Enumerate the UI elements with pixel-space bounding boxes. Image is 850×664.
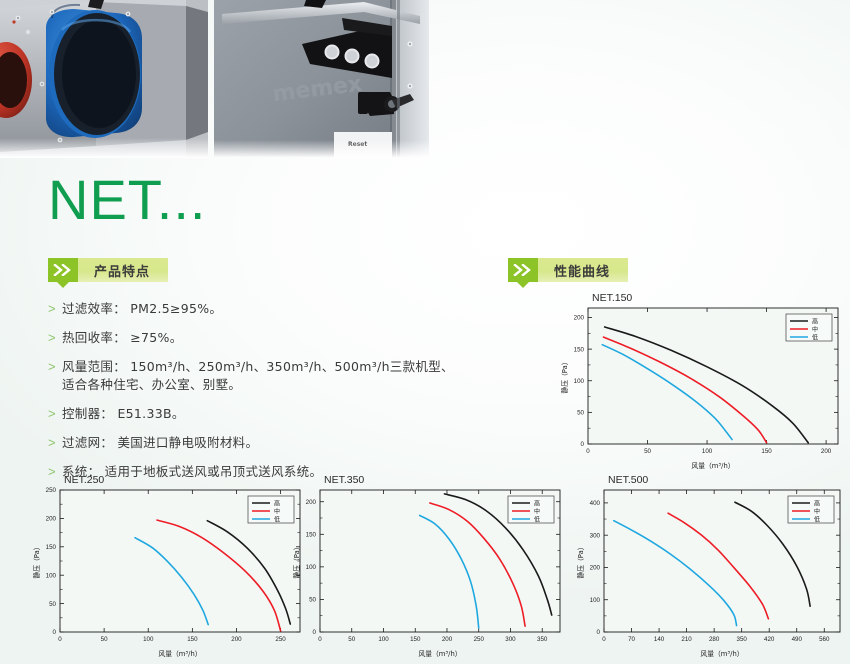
svg-text:50: 50 bbox=[49, 601, 56, 608]
svg-text:200: 200 bbox=[442, 636, 453, 643]
svg-text:0: 0 bbox=[586, 448, 590, 455]
performance-chart-net350: NET.350050100150200250300350050100150200… bbox=[288, 470, 568, 662]
svg-text:150: 150 bbox=[46, 544, 57, 551]
svg-text:风量（m³/h）: 风量（m³/h） bbox=[691, 462, 734, 470]
svg-text:560: 560 bbox=[819, 636, 830, 643]
svg-text:490: 490 bbox=[792, 636, 803, 643]
svg-text:300: 300 bbox=[505, 636, 516, 643]
svg-text:250: 250 bbox=[275, 636, 286, 643]
svg-text:高: 高 bbox=[534, 499, 540, 507]
section-badge-features: 产品特点 bbox=[48, 258, 168, 282]
svg-text:350: 350 bbox=[737, 636, 748, 643]
section-badge-features-label: 产品特点 bbox=[78, 258, 168, 282]
svg-text:NET.250: NET.250 bbox=[64, 474, 104, 486]
product-photo-duct-ports bbox=[0, 0, 208, 158]
svg-text:高: 高 bbox=[274, 499, 280, 507]
svg-text:0: 0 bbox=[53, 629, 57, 636]
svg-text:400: 400 bbox=[590, 500, 601, 507]
svg-text:200: 200 bbox=[231, 636, 242, 643]
page-title: NET... bbox=[48, 170, 206, 230]
svg-text:风量（m³/h）: 风量（m³/h） bbox=[700, 650, 743, 658]
svg-text:0: 0 bbox=[58, 636, 62, 643]
section-badge-curves-label: 性能曲线 bbox=[538, 258, 628, 282]
svg-text:50: 50 bbox=[348, 636, 355, 643]
performance-chart-net250: NET.250050100150200250050100150200250风量（… bbox=[28, 470, 308, 662]
svg-text:50: 50 bbox=[577, 410, 584, 417]
svg-text:100: 100 bbox=[574, 378, 585, 385]
svg-text:风量（m³/h）: 风量（m³/h） bbox=[418, 650, 461, 658]
svg-text:静压（Pa）: 静压（Pa） bbox=[560, 358, 569, 393]
svg-text:280: 280 bbox=[709, 636, 720, 643]
bullet-chevron-icon: > bbox=[48, 329, 62, 346]
svg-text:低: 低 bbox=[812, 333, 818, 341]
product-photo-strip: memex memex R bbox=[0, 0, 430, 158]
svg-text:中: 中 bbox=[814, 507, 820, 515]
svg-text:高: 高 bbox=[814, 499, 820, 507]
svg-text:0: 0 bbox=[597, 629, 601, 636]
svg-text:100: 100 bbox=[378, 636, 389, 643]
svg-text:150: 150 bbox=[574, 346, 585, 353]
list-item: > 过滤网： 美国进口静电吸附材料。 bbox=[48, 434, 488, 452]
svg-text:静压（Pa）: 静压（Pa） bbox=[292, 543, 301, 578]
svg-text:100: 100 bbox=[306, 564, 317, 571]
svg-text:200: 200 bbox=[46, 516, 57, 523]
svg-text:150: 150 bbox=[410, 636, 421, 643]
svg-text:200: 200 bbox=[306, 499, 317, 506]
list-item: > 控制器： E51.33B。 bbox=[48, 405, 488, 423]
svg-text:低: 低 bbox=[274, 515, 280, 523]
feature-text: 过滤效率： PM2.5≥95%。 bbox=[62, 300, 222, 318]
svg-text:NET.500: NET.500 bbox=[608, 474, 648, 486]
svg-text:200: 200 bbox=[821, 448, 832, 455]
list-item: > 风量范围： 150m³/h、250m³/h、350m³/h、500m³/h三… bbox=[48, 358, 488, 394]
svg-text:中: 中 bbox=[812, 325, 818, 333]
feature-text: 过滤网： 美国进口静电吸附材料。 bbox=[62, 434, 258, 452]
double-chevron-right-icon bbox=[48, 258, 78, 282]
svg-text:NET.150: NET.150 bbox=[592, 292, 632, 304]
svg-text:50: 50 bbox=[101, 636, 108, 643]
svg-text:100: 100 bbox=[590, 597, 601, 604]
svg-text:NET.350: NET.350 bbox=[324, 474, 364, 486]
svg-text:250: 250 bbox=[46, 487, 57, 494]
svg-text:风量（m³/h）: 风量（m³/h） bbox=[158, 650, 201, 658]
svg-text:中: 中 bbox=[534, 507, 540, 515]
feature-text: 控制器： E51.33B。 bbox=[62, 405, 185, 423]
double-chevron-right-icon bbox=[508, 258, 538, 282]
svg-text:静压（Pa）: 静压（Pa） bbox=[576, 543, 585, 578]
svg-text:50: 50 bbox=[309, 597, 316, 604]
svg-text:低: 低 bbox=[814, 515, 820, 523]
bullet-chevron-icon: > bbox=[48, 300, 62, 317]
svg-text:0: 0 bbox=[581, 441, 585, 448]
product-photo-panel-latch: memex memex R bbox=[214, 0, 429, 158]
svg-text:高: 高 bbox=[812, 317, 818, 325]
svg-text:0: 0 bbox=[318, 636, 322, 643]
svg-text:150: 150 bbox=[761, 448, 772, 455]
list-item: > 过滤效率： PM2.5≥95%。 bbox=[48, 300, 488, 318]
svg-text:140: 140 bbox=[654, 636, 665, 643]
svg-text:200: 200 bbox=[590, 565, 601, 572]
performance-chart-net150: NET.150050100150200050100150200风量（m³/h）静… bbox=[556, 288, 846, 474]
bullet-chevron-icon: > bbox=[48, 405, 62, 422]
svg-text:70: 70 bbox=[628, 636, 635, 643]
feature-text: 热回收率： ≥75%。 bbox=[62, 329, 183, 347]
svg-text:低: 低 bbox=[534, 515, 540, 523]
svg-text:150: 150 bbox=[187, 636, 198, 643]
svg-text:250: 250 bbox=[474, 636, 485, 643]
svg-text:中: 中 bbox=[274, 507, 280, 515]
svg-text:50: 50 bbox=[644, 448, 651, 455]
svg-text:0: 0 bbox=[313, 629, 317, 636]
section-badge-curves: 性能曲线 bbox=[508, 258, 628, 282]
svg-text:0: 0 bbox=[602, 636, 606, 643]
bullet-chevron-icon: > bbox=[48, 434, 62, 451]
svg-text:静压（Pa）: 静压（Pa） bbox=[32, 543, 41, 578]
feature-list: > 过滤效率： PM2.5≥95%。 > 热回收率： ≥75%。 > 风量范围：… bbox=[48, 300, 488, 492]
svg-text:100: 100 bbox=[46, 572, 57, 579]
performance-chart-net500: NET.500070140210280350420490560010020030… bbox=[572, 470, 848, 662]
svg-text:210: 210 bbox=[681, 636, 692, 643]
svg-text:200: 200 bbox=[574, 315, 585, 322]
svg-text:420: 420 bbox=[764, 636, 775, 643]
feature-text: 风量范围： 150m³/h、250m³/h、350m³/h、500m³/h三款机… bbox=[62, 358, 454, 394]
bullet-chevron-icon: > bbox=[48, 358, 62, 375]
list-item: > 热回收率： ≥75%。 bbox=[48, 329, 488, 347]
svg-text:100: 100 bbox=[702, 448, 713, 455]
svg-text:350: 350 bbox=[537, 636, 548, 643]
svg-text:100: 100 bbox=[143, 636, 154, 643]
svg-text:300: 300 bbox=[590, 532, 601, 539]
svg-text:150: 150 bbox=[306, 531, 317, 538]
